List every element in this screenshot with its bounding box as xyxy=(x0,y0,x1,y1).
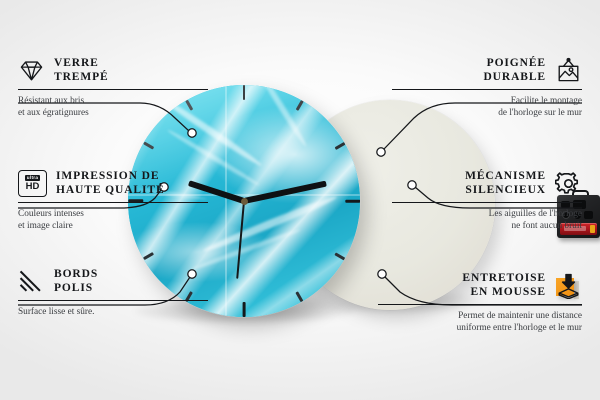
callout-entretoise-en-mousse[interactable]: ENTRETOISEEN MOUSSE Permet de maintenir … xyxy=(378,272,582,334)
callout-header: ultra HD IMPRESSION DEHAUTE QUALITÉ xyxy=(18,170,208,197)
callout-header: MÉCANISMESILENCIEUX xyxy=(392,170,582,197)
callout-title: IMPRESSION DEHAUTE QUALITÉ xyxy=(56,170,165,197)
callout-bords-polis[interactable]: BORDSPOLIS Surface lisse et sûre. xyxy=(18,268,208,318)
callout-mecanisme-silencieux[interactable]: MÉCANISMESILENCIEUX Les aiguilles de l'h… xyxy=(392,170,582,232)
infographic-stage: VERRETREMPÉ Résistant aux briset aux égr… xyxy=(0,0,600,400)
press-down-pad-icon xyxy=(555,272,582,299)
gear-icon xyxy=(555,170,582,197)
callout-rule xyxy=(18,202,208,203)
framed-picture-icon xyxy=(555,57,582,84)
callout-subtitle: Les aiguilles de l'horlogene font aucun … xyxy=(392,208,582,232)
callout-verre-trempe[interactable]: VERRETREMPÉ Résistant aux briset aux égr… xyxy=(18,57,208,119)
callout-subtitle: Facilite le montagede l'horloge sur le m… xyxy=(392,95,582,119)
callout-rule xyxy=(378,304,582,305)
callout-rule xyxy=(18,300,208,301)
callout-rule xyxy=(392,202,582,203)
callout-title: VERRETREMPÉ xyxy=(54,57,109,84)
callout-title: POIGNÉEDURABLE xyxy=(483,57,546,84)
callout-subtitle: Permet de maintenir une distanceuniforme… xyxy=(378,310,582,334)
callout-title: MÉCANISMESILENCIEUX xyxy=(465,170,546,197)
callout-header: ENTRETOISEEN MOUSSE xyxy=(378,272,582,299)
callout-header: VERRETREMPÉ xyxy=(18,57,208,84)
callout-rule xyxy=(18,89,208,90)
diamond-icon xyxy=(18,57,45,84)
callout-poignee-durable[interactable]: POIGNÉEDURABLE Facilite le montagede l'h… xyxy=(392,57,582,119)
ultra-hd-badge-icon: ultra HD xyxy=(18,170,47,197)
callout-title: ENTRETOISEEN MOUSSE xyxy=(462,272,546,299)
diagonal-lines-icon xyxy=(18,268,45,295)
callout-subtitle: Surface lisse et sûre. xyxy=(18,306,208,318)
callout-header: BORDSPOLIS xyxy=(18,268,208,295)
battery-cap xyxy=(590,225,595,233)
callout-subtitle: Couleurs intenseset image claire xyxy=(18,208,208,232)
mechanism-detail xyxy=(584,211,593,219)
callout-rule xyxy=(392,89,582,90)
callout-header: POIGNÉEDURABLE xyxy=(392,57,582,84)
callout-title: BORDSPOLIS xyxy=(54,268,98,295)
callout-subtitle: Résistant aux briset aux égratignures xyxy=(18,95,208,119)
callout-impression-haute-qualite[interactable]: ultra HD IMPRESSION DEHAUTE QUALITÉ Coul… xyxy=(18,170,208,232)
